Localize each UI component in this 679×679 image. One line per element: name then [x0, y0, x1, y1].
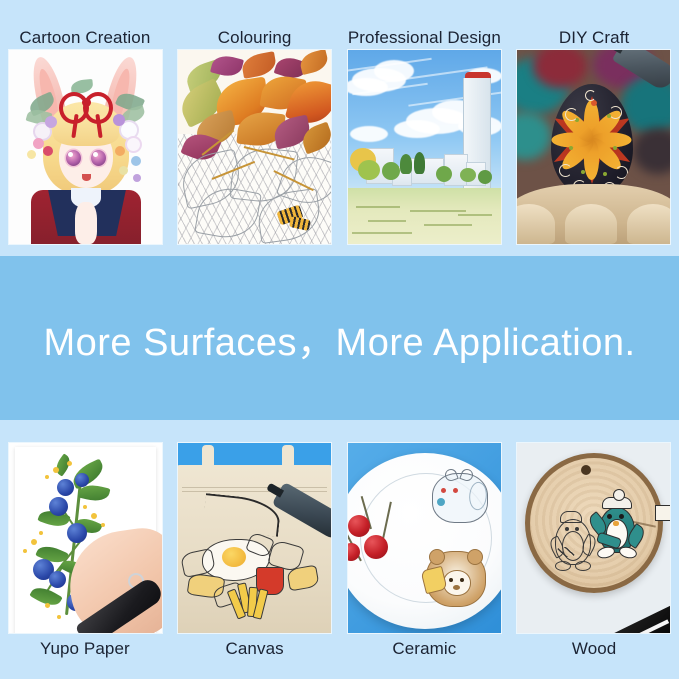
label-colouring: Colouring — [170, 26, 340, 50]
label-cartoon-creation: Cartoon Creation — [0, 26, 170, 50]
ceramic-photo — [348, 443, 501, 633]
ceramic-plate-drawing — [348, 443, 501, 633]
label-wood: Wood — [509, 637, 679, 661]
bottom-label-row: Yupo Paper Canvas Ceramic Wood — [0, 637, 679, 661]
top-image-strip — [0, 50, 679, 244]
painted-easter-egg — [517, 50, 670, 244]
penguin-coloured-drawing — [593, 485, 641, 559]
product-feature-poster: Cartoon Creation Colouring Professional … — [0, 0, 679, 679]
wood-slice-penguins — [517, 443, 670, 633]
anime-girl-illustration — [9, 50, 162, 244]
bottom-image-strip — [0, 443, 679, 633]
label-diy-craft: DIY Craft — [509, 26, 679, 50]
red-ribbon-bow — [59, 92, 113, 118]
tote-bag-doodle — [178, 443, 331, 633]
headline-banner: More Surfaces，More Application. — [0, 256, 679, 420]
yupo-paper-photo — [9, 443, 162, 633]
label-ceramic: Ceramic — [340, 637, 510, 661]
penguin-outline-drawing — [551, 509, 595, 571]
professional-design-photo — [348, 50, 501, 244]
autumn-leaves-colouring-page — [178, 50, 331, 244]
black-pencil — [560, 602, 670, 633]
label-canvas: Canvas — [170, 637, 340, 661]
diy-craft-photo — [517, 50, 670, 244]
blueberry-painting-on-paper — [9, 443, 162, 633]
watercolour-cityscape — [348, 50, 501, 244]
bear-character-drawing — [426, 551, 486, 607]
cat-character-drawing — [432, 473, 488, 523]
canvas-photo — [178, 443, 331, 633]
colouring-photo — [178, 50, 331, 244]
label-yupo-paper: Yupo Paper — [0, 637, 170, 661]
label-professional-design: Professional Design — [340, 26, 510, 50]
headline-text: More Surfaces，More Application. — [43, 311, 635, 366]
top-label-row: Cartoon Creation Colouring Professional … — [0, 26, 679, 50]
wood-photo — [517, 443, 670, 633]
cartoon-creation-photo — [9, 50, 162, 244]
